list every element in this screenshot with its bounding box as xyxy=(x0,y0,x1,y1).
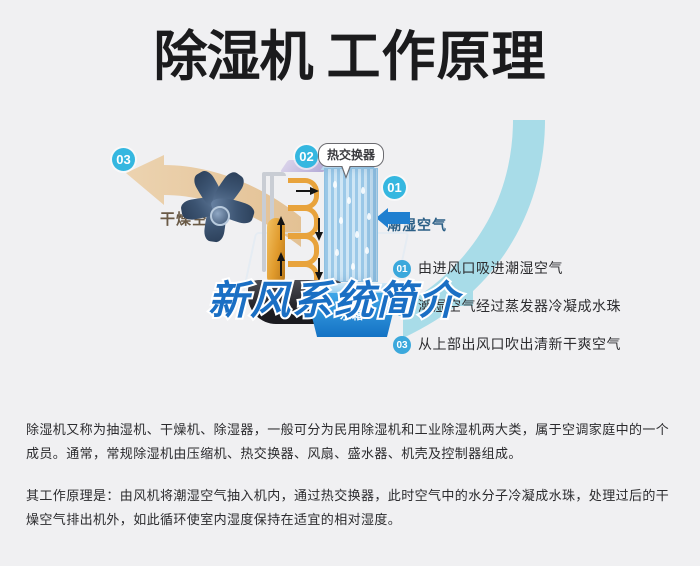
diagram-badge-02: 02 xyxy=(295,145,318,168)
page-title-part2: 工作原理 xyxy=(327,27,547,87)
air-inflow-arrow-icon xyxy=(376,208,410,228)
paragraph-2: 其工作原理是：由风机将潮湿空气抽入机内，通过热交换器，此时空气中的水分子冷凝成水… xyxy=(26,484,678,532)
heat-exchanger-callout: 热交换器 xyxy=(318,143,384,167)
page-title: 除湿机工作原理 xyxy=(0,26,700,88)
leaf-icon xyxy=(72,126,84,134)
fan-icon xyxy=(172,168,264,260)
description-text: 除湿机又称为抽湿机、干燥机、除湿器，一般可分为民用除湿机和工业除湿机两大类，属于… xyxy=(26,418,678,550)
watermark-text: 新风系统简介 xyxy=(208,268,460,326)
diagram-badge-03: 03 xyxy=(112,148,135,171)
leaf-icon xyxy=(46,142,70,155)
infographic-page: 除湿机工作原理 03 干燥空气 01 潮湿空气 xyxy=(0,0,700,566)
step-badge: 03 xyxy=(393,336,411,354)
list-item: 03 从上部出风口吹出清新干爽空气 xyxy=(393,334,693,354)
evaporator-fin-block xyxy=(324,168,378,282)
paragraph-1: 除湿机又称为抽湿机、干燥机、除湿器，一般可分为民用除湿机和工业除湿机两大类，属于… xyxy=(26,418,678,466)
diagram-badge-01: 01 xyxy=(383,176,406,199)
page-title-part1: 除湿机 xyxy=(154,27,313,87)
step-text: 从上部出风口吹出清新干爽空气 xyxy=(418,334,621,354)
